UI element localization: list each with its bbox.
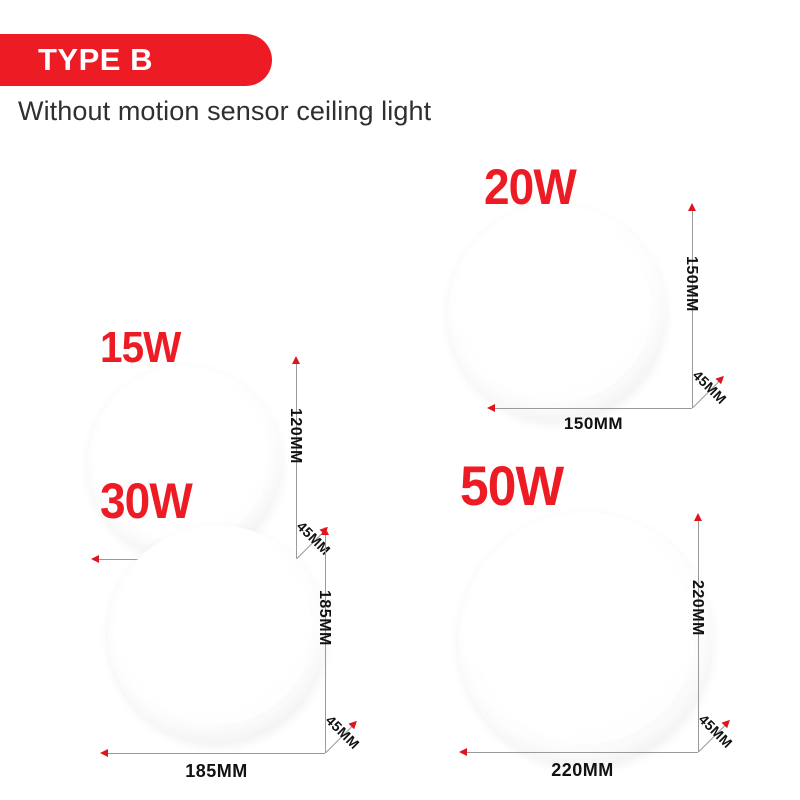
dimension-label-height-20w: 150MM bbox=[682, 256, 700, 312]
ceiling-light-disc-20w bbox=[448, 204, 666, 422]
wattage-label-30w: 30W bbox=[100, 476, 192, 526]
product-cell-15w: 15W 120MM 120MM 45MM bbox=[0, 150, 400, 450]
dimension-line-horizontal-30w bbox=[108, 753, 325, 754]
wattage-label-50w: 50W bbox=[460, 458, 563, 514]
arrow-left-icon bbox=[487, 404, 495, 412]
product-cell-20w: 20W 150MM 150MM 45MM bbox=[400, 150, 800, 450]
product-cell-50w: 50W 220MM 220MM 45MM bbox=[400, 450, 800, 800]
dimension-line-horizontal-50w bbox=[467, 752, 698, 753]
dimension-label-depth-30w: 45MM bbox=[323, 712, 363, 752]
dimension-label-width-20w: 150MM bbox=[495, 414, 692, 434]
dimension-label-height-30w: 185MM bbox=[315, 590, 333, 646]
arrow-up-icon bbox=[321, 527, 329, 535]
page-subtitle: Without motion sensor ceiling light bbox=[18, 96, 431, 127]
arrow-left-icon bbox=[100, 749, 108, 757]
product-cell-30w: 30W 185MM 185MM 45MM bbox=[0, 450, 400, 800]
ceiling-light-disc-30w bbox=[108, 525, 327, 744]
type-banner: TYPE B bbox=[0, 34, 272, 86]
product-spec-sheet: TYPE B Without motion sensor ceiling lig… bbox=[0, 0, 800, 800]
ceiling-light-disc-50w bbox=[458, 512, 713, 767]
dimension-label-depth-50w: 45MM bbox=[696, 711, 736, 751]
arrow-up-icon bbox=[694, 513, 702, 521]
dimension-label-height-50w: 220MM bbox=[688, 580, 706, 636]
arrow-left-icon bbox=[459, 748, 467, 756]
dimension-line-horizontal-20w bbox=[495, 408, 692, 409]
dimension-label-width-30w: 185MM bbox=[108, 761, 325, 782]
type-banner-label: TYPE B bbox=[38, 42, 153, 78]
arrow-up-icon bbox=[292, 356, 300, 364]
dimension-label-width-50w: 220MM bbox=[467, 760, 698, 781]
wattage-label-15w: 15W bbox=[100, 326, 180, 370]
dimension-label-depth-20w: 45MM bbox=[690, 367, 730, 407]
arrow-up-icon bbox=[688, 203, 696, 211]
